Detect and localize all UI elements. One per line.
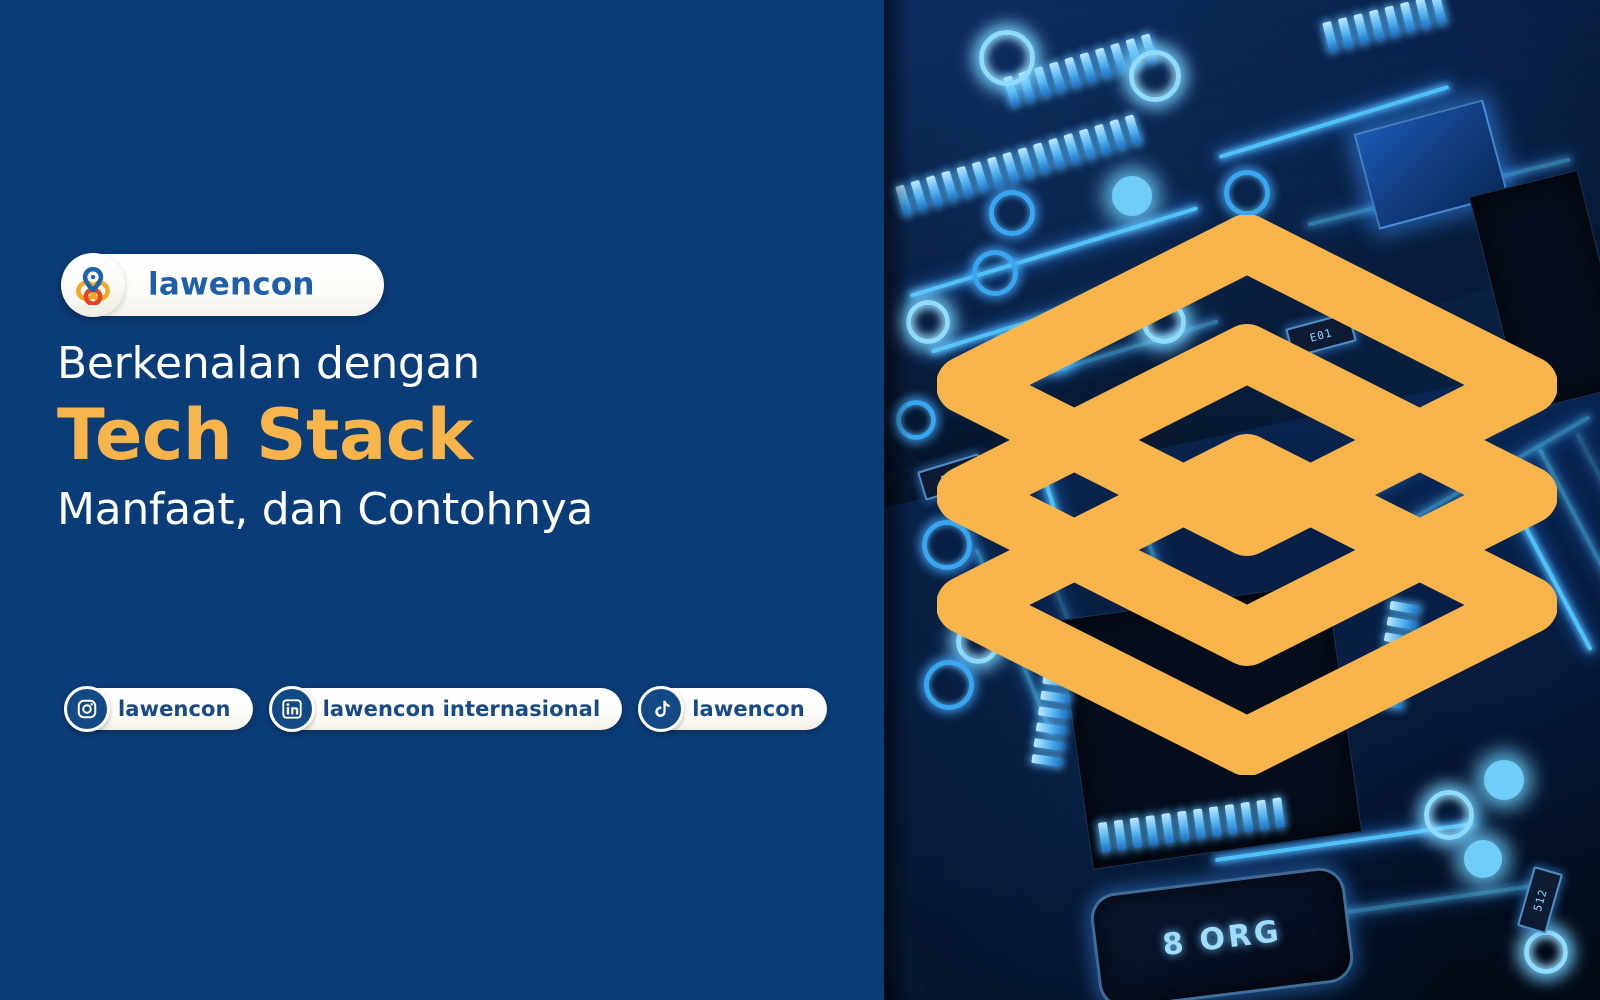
pcb-via	[1484, 760, 1524, 800]
pcb-via	[906, 300, 950, 344]
headline-line-2-highlight: Tech Stack	[57, 395, 847, 476]
brand-logo-pill[interactable]: lawencon	[62, 254, 384, 316]
social-handle-tiktok: lawencon	[692, 697, 805, 721]
lawencon-clover-logo-icon	[61, 253, 125, 317]
pcb-via	[896, 400, 936, 440]
instagram-icon	[64, 686, 110, 732]
pcb-via	[1524, 930, 1568, 974]
pcb-via	[1424, 790, 1474, 840]
hero-image-panel: E01 512 512 8 ORG	[884, 0, 1600, 1000]
social-handle-linkedin: lawencon internasional	[323, 697, 601, 721]
headline-block: Berkenalan dengan Tech Stack Manfaat, da…	[57, 338, 847, 535]
tiktok-icon	[638, 686, 684, 732]
pcb-via	[1112, 176, 1152, 216]
social-handle-instagram: lawencon	[118, 697, 231, 721]
headline-line-1: Berkenalan dengan	[57, 338, 847, 389]
social-pill-linkedin[interactable]: lawencon internasional	[271, 688, 623, 730]
social-handles-row: lawencon lawencon internasional	[66, 688, 827, 730]
circuit-board-photo: E01 512 512 8 ORG	[884, 0, 1600, 1000]
pcb-via	[956, 620, 1000, 664]
brand-wordmark: lawencon	[148, 266, 315, 302]
pcb-via	[972, 250, 1018, 296]
content-panel: lawencon Berkenalan dengan Tech Stack Ma…	[0, 0, 884, 1000]
linkedin-icon	[269, 686, 315, 732]
pcb-via	[1129, 50, 1181, 102]
social-pill-tiktok[interactable]: lawencon	[640, 688, 827, 730]
pcb-via	[924, 660, 974, 710]
pcb-via	[1464, 840, 1502, 878]
social-pill-instagram[interactable]: lawencon	[66, 688, 253, 730]
pcb-via	[922, 520, 972, 570]
pcb-via	[979, 30, 1035, 86]
headline-line-3: Manfaat, dan Contohnya	[57, 484, 847, 535]
pcb-via	[1224, 170, 1270, 216]
pcb-via	[1036, 330, 1078, 372]
poster-canvas: E01 512 512 8 ORG	[0, 0, 1600, 1000]
pcb-via	[1142, 300, 1186, 344]
pcb-via	[989, 190, 1035, 236]
